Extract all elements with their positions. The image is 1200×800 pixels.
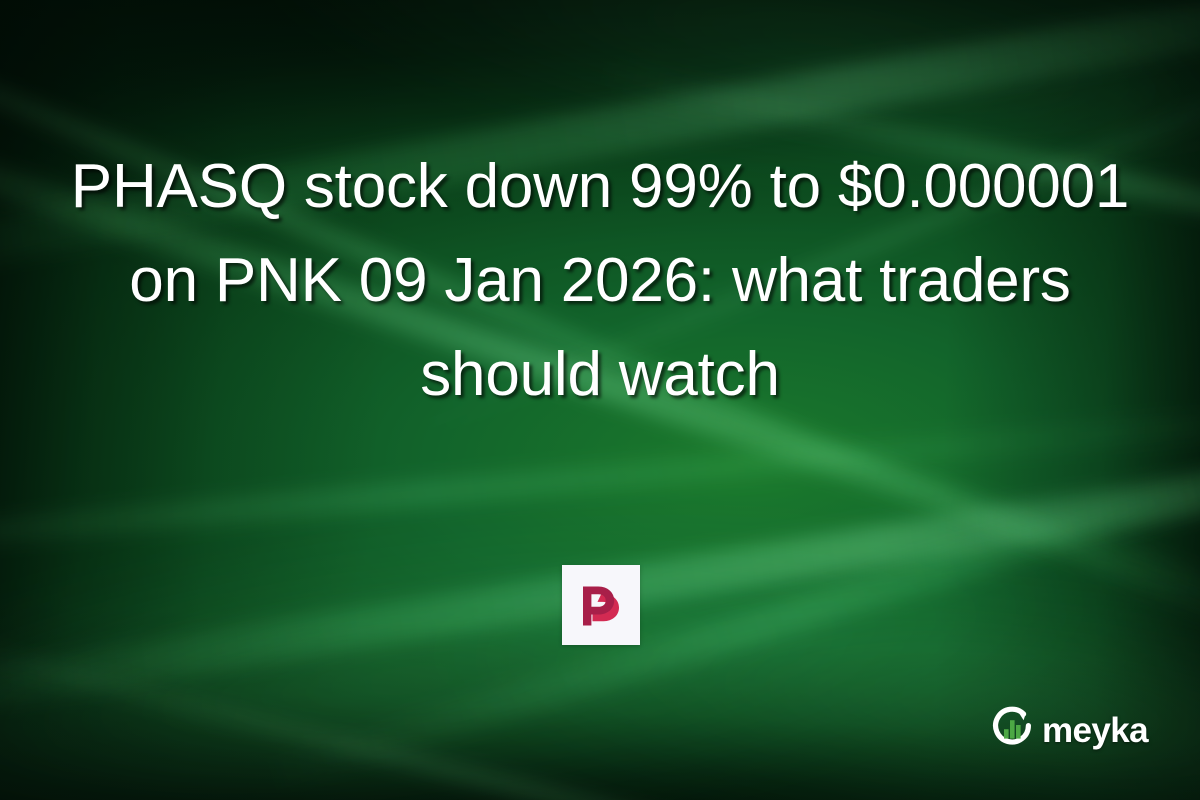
phasq-p-logo-icon [578, 581, 624, 629]
meyka-circular-chart-icon [989, 705, 1035, 756]
brand-badge [562, 565, 640, 645]
card-content: PHASQ stock down 99% to $0.000001 on PNK… [0, 0, 1200, 800]
watermark-label: meyka [1042, 713, 1148, 748]
watermark: meyka [989, 705, 1148, 756]
social-share-card: PHASQ stock down 99% to $0.000001 on PNK… [0, 0, 1200, 800]
page-title: PHASQ stock down 99% to $0.000001 on PNK… [60, 140, 1140, 422]
